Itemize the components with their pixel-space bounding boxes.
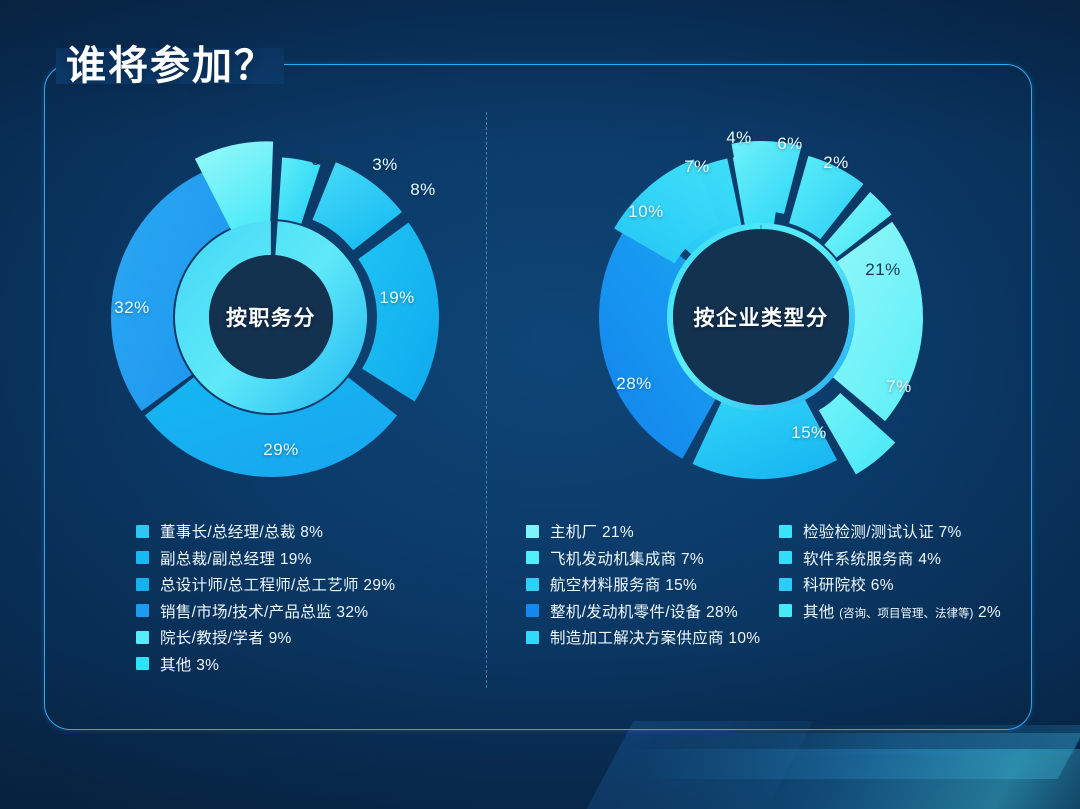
donut-left-hub [209, 255, 333, 379]
donut-right-svg [556, 112, 966, 492]
legend-company-type-label: 制造加工解决方案供应商 10% [550, 626, 760, 648]
legend-swatch-icon [526, 551, 539, 564]
legend-by-position: 董事长/总经理/总裁 8%副总裁/副总经理 19%总设计师/总工程师/总工艺师 … [136, 518, 395, 677]
legend-company-type-item[interactable]: 检验检测/测试认证 7% [779, 518, 1001, 545]
legend-position-item[interactable]: 董事长/总经理/总裁 8% [136, 518, 395, 545]
legend-position-item[interactable]: 其他 3% [136, 651, 395, 678]
legend-position-label: 销售/市场/技术/产品总监 32% [160, 600, 368, 622]
legend-swatch-icon [526, 578, 539, 591]
chart-by-company-type: 按企业类型分 4%6%2%7%10%21%7%15%28% [556, 112, 966, 492]
donut-slice [278, 157, 321, 223]
legend-by-company-type-col1: 主机厂 21%飞机发动机集成商 7%航空材料服务商 15%整机/发动机零件/设备… [526, 518, 760, 651]
legend-swatch-icon [526, 525, 539, 538]
donut-slice [313, 162, 402, 250]
decoration-band-1 [581, 749, 1080, 809]
legend-swatch-icon [136, 631, 149, 644]
legend-swatch-icon [136, 551, 149, 564]
page-title: 谁将参加？ [66, 33, 276, 91]
legend-swatch-icon [136, 525, 149, 538]
section-divider [486, 112, 487, 688]
legend-company-type-item[interactable]: 制造加工解决方案供应商 10% [526, 624, 760, 651]
legend-position-label: 总设计师/总工程师/总工艺师 29% [160, 573, 395, 595]
legend-by-company-type-col2: 检验检测/测试认证 7%软件系统服务商 4%科研院校 6%其他 (咨询、项目管理… [779, 518, 1001, 624]
donut-left-segment-19 [358, 223, 439, 402]
legend-company-type-label: 软件系统服务商 4% [803, 547, 941, 569]
legend-swatch-icon [136, 578, 149, 591]
legend-company-type-label: 整机/发动机零件/设备 28% [550, 600, 738, 622]
legend-company-type-label: 其他 (咨询、项目管理、法律等) 2% [803, 600, 1001, 622]
decoration-band-4 [772, 725, 1080, 755]
legend-company-type-item[interactable]: 软件系统服务商 4% [779, 545, 1001, 572]
legend-swatch-icon [779, 604, 792, 617]
legend-company-type-label: 飞机发动机集成商 7% [550, 547, 704, 569]
legend-company-type-item[interactable]: 航空材料服务商 15% [526, 571, 760, 598]
legend-position-label: 副总裁/副总经理 19% [160, 547, 312, 569]
donut-right-hub [673, 229, 849, 405]
donut-left-segment-8 [313, 162, 402, 250]
legend-company-type-label: 科研院校 6% [803, 573, 894, 595]
legend-company-type-label: 主机厂 21% [550, 520, 634, 542]
legend-position-label: 董事长/总经理/总裁 8% [160, 520, 323, 542]
legend-swatch-icon [136, 657, 149, 670]
legend-swatch-icon [779, 525, 792, 538]
donut-left-svg [96, 112, 446, 492]
legend-position-item[interactable]: 总设计师/总工程师/总工艺师 29% [136, 571, 395, 598]
legend-swatch-icon [526, 604, 539, 617]
legend-company-type-item[interactable]: 整机/发动机零件/设备 28% [526, 598, 760, 625]
decoration-band-3 [587, 721, 814, 809]
legend-swatch-icon [526, 631, 539, 644]
legend-company-type-item[interactable]: 飞机发动机集成商 7% [526, 545, 760, 572]
legend-company-type-item[interactable]: 主机厂 21% [526, 518, 760, 545]
slide-canvas: 谁将参加？ 按职务分 9%3%8%19%29%32% 按企业类型分 4%6%2%… [0, 0, 1080, 809]
donut-left-segment-3 [278, 157, 321, 223]
legend-position-item[interactable]: 院长/教授/学者 9% [136, 624, 395, 651]
legend-swatch-icon [136, 604, 149, 617]
legend-company-type-label: 航空材料服务商 15% [550, 573, 697, 595]
legend-position-item[interactable]: 销售/市场/技术/产品总监 32% [136, 598, 395, 625]
decoration-band-2 [638, 733, 1080, 779]
legend-position-label: 院长/教授/学者 9% [160, 626, 292, 648]
legend-company-type-item[interactable]: 其他 (咨询、项目管理、法律等) 2% [779, 598, 1001, 625]
legend-swatch-icon [779, 578, 792, 591]
donut-slice [358, 223, 439, 402]
legend-swatch-icon [779, 551, 792, 564]
legend-company-type-label: 检验检测/测试认证 7% [803, 520, 962, 542]
legend-position-label: 其他 3% [160, 653, 219, 675]
legend-company-type-item[interactable]: 科研院校 6% [779, 571, 1001, 598]
legend-position-item[interactable]: 副总裁/副总经理 19% [136, 545, 395, 572]
chart-by-position: 按职务分 9%3%8%19%29%32% [96, 112, 446, 492]
